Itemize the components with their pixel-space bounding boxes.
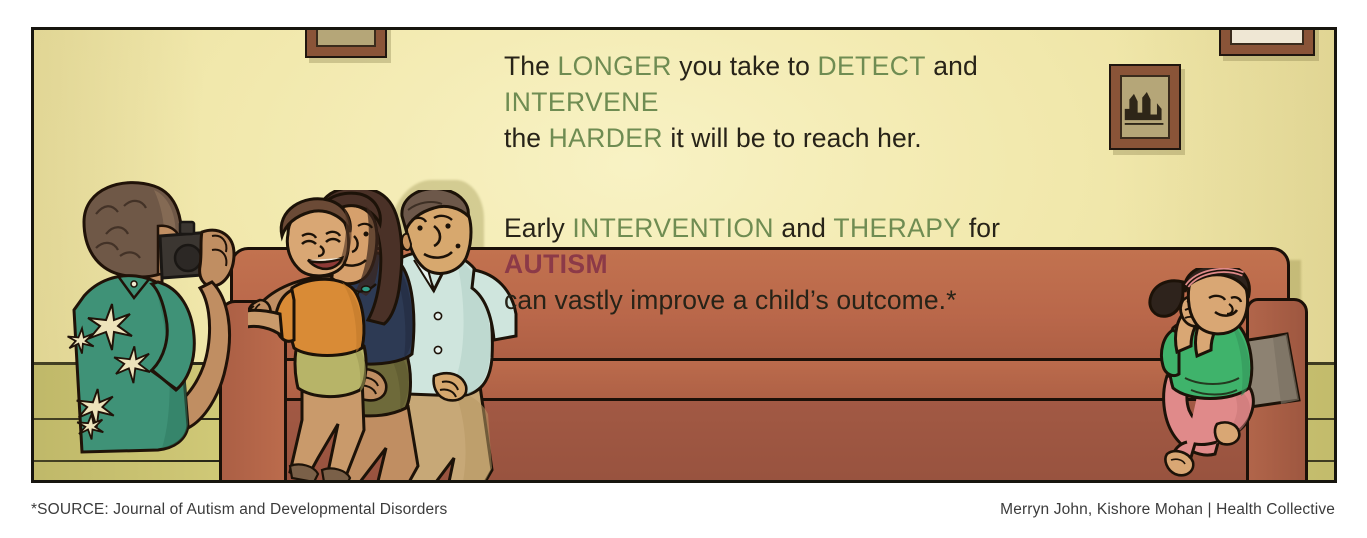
text-the-2: the: [504, 123, 549, 153]
text-outcome: can vastly improve a child’s outcome.*: [504, 285, 957, 315]
picture-frame-left: [305, 27, 387, 58]
keyword-therapy: THERAPY: [833, 213, 961, 243]
text-and: and: [926, 51, 978, 81]
text-you-take-to: you take to: [672, 51, 818, 81]
paragraph-one: The LONGER you take to DETECT and INTERV…: [504, 48, 1084, 156]
family-group: [248, 190, 518, 483]
text-for: for: [961, 213, 1000, 243]
keyword-harder: HARDER: [549, 123, 663, 153]
frame-artwork: [1231, 27, 1303, 44]
keyword-intervention: INTERVENTION: [572, 213, 774, 243]
keyword-autism: AUTISM: [504, 249, 608, 279]
credit-line: Merryn John, Kishore Mohan | Health Coll…: [1000, 501, 1337, 519]
paragraph-two: Early INTERVENTION and THERAPY for AUTIS…: [504, 210, 1084, 318]
frame-artwork-cityscape: [1121, 76, 1169, 138]
girl-covering-ears: [1139, 268, 1319, 483]
comic-page: The LONGER you take to DETECT and INTERV…: [0, 0, 1367, 538]
caption-text-block: The LONGER you take to DETECT and INTERV…: [504, 48, 1084, 318]
photographer-with-camera: [62, 170, 242, 483]
keyword-longer: LONGER: [557, 51, 671, 81]
frame-artwork-landscape: [317, 27, 375, 46]
text-and-2: and: [774, 213, 833, 243]
picture-frame-middle: [1109, 64, 1181, 150]
comic-panel: The LONGER you take to DETECT and INTERV…: [31, 27, 1337, 483]
text-reach-her: it will be to reach her.: [663, 123, 922, 153]
picture-frame-right: [1219, 27, 1315, 56]
keyword-intervene: INTERVENE: [504, 87, 659, 117]
text-early: Early: [504, 213, 572, 243]
young-child: [248, 199, 366, 483]
keyword-detect: DETECT: [817, 51, 925, 81]
text-the: The: [504, 51, 557, 81]
footer: *SOURCE: Journal of Autism and Developme…: [31, 492, 1337, 528]
source-note: *SOURCE: Journal of Autism and Developme…: [31, 501, 447, 519]
